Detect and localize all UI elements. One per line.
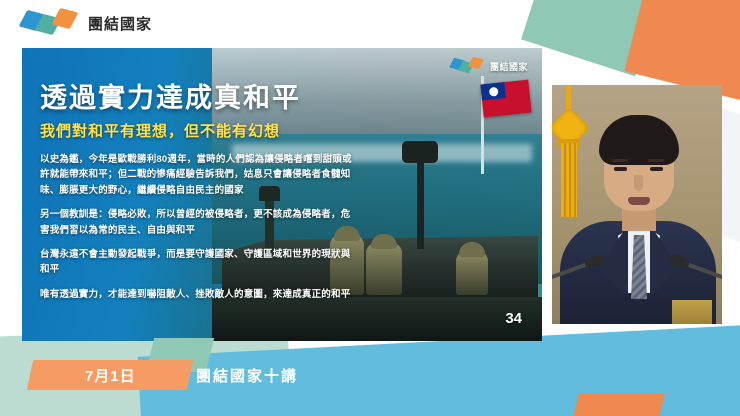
date-label: 7月1日: [85, 365, 136, 386]
brand-header: 團結國家: [22, 10, 152, 36]
speaker-eye-left: [614, 167, 627, 171]
brand-name-label: 團結國家: [88, 13, 152, 34]
three-parallelograms-icon: [22, 10, 80, 36]
presentation-slide: 團結國家 透過實力達成真和平 我們對和平有理想，但不能有幻想 以史為鑑，今年是歐…: [22, 48, 542, 341]
speaker-mouth: [628, 197, 650, 205]
decor-orange-tab-bottom-right: [573, 394, 664, 416]
slide-photo-mast: [417, 157, 424, 249]
chinese-knot-tassel: [561, 143, 577, 217]
speaker-eyebrow-right: [648, 159, 664, 162]
bottom-bar: 7月1日 團結國家十講: [0, 340, 740, 416]
three-parallelograms-icon: [451, 58, 485, 74]
slide-title: 透過實力達成真和平: [40, 76, 301, 115]
slide-body-text: 以史為鑑，今年是歐戰勝利80週年，當時的人們認為讓侵略者嚐到甜頭或許就能帶來和平…: [40, 152, 352, 311]
broadcast-screen: 團結國家 團結國家 透過實力達成真和平 我們對和平有理想，但不能有幻想 以史為鑑…: [0, 0, 740, 416]
slide-paragraph: 以史為鑑，今年是歐戰勝利80週年，當時的人們認為讓侵略者嚐到甜頭或許就能帶來和平…: [40, 152, 352, 198]
speaker-eye-right: [650, 167, 663, 171]
speaker-nose: [634, 175, 643, 191]
slide-brand-name-label: 團結國家: [490, 60, 528, 73]
date-badge: 7月1日: [27, 360, 193, 390]
slide-photo-soldier: [366, 243, 402, 295]
series-title: 團結國家十講: [196, 360, 298, 390]
slide-paragraph: 台灣永遠不會主動發起戰爭，而是要守護國家、守護區域和世界的現狀與和平: [40, 247, 352, 278]
slide-page-number: 34: [505, 310, 522, 327]
podium: [672, 300, 712, 324]
slide-photo-soldier: [456, 251, 488, 295]
slide-subtitle: 我們對和平有理想，但不能有幻想: [40, 120, 280, 141]
speaker-video-panel[interactable]: [552, 85, 722, 324]
speaker-eyebrow-left: [612, 159, 628, 162]
slide-photo-mast-head: [402, 141, 438, 163]
slide-paragraph: 另一個教訓是：侵略必敗，所以曾經的被侵略者，更不該成為侵略者，危害我們習以為常的…: [40, 207, 352, 238]
series-title-label: 團結國家十講: [196, 365, 298, 386]
roc-flag-icon: [480, 80, 531, 118]
slide-paragraph: 唯有透過實力，才能達到嚇阻敵人、挫敗敵人的意圖，來達成真正的和平: [40, 287, 352, 302]
slide-brand-logo: 團結國家: [451, 58, 528, 74]
